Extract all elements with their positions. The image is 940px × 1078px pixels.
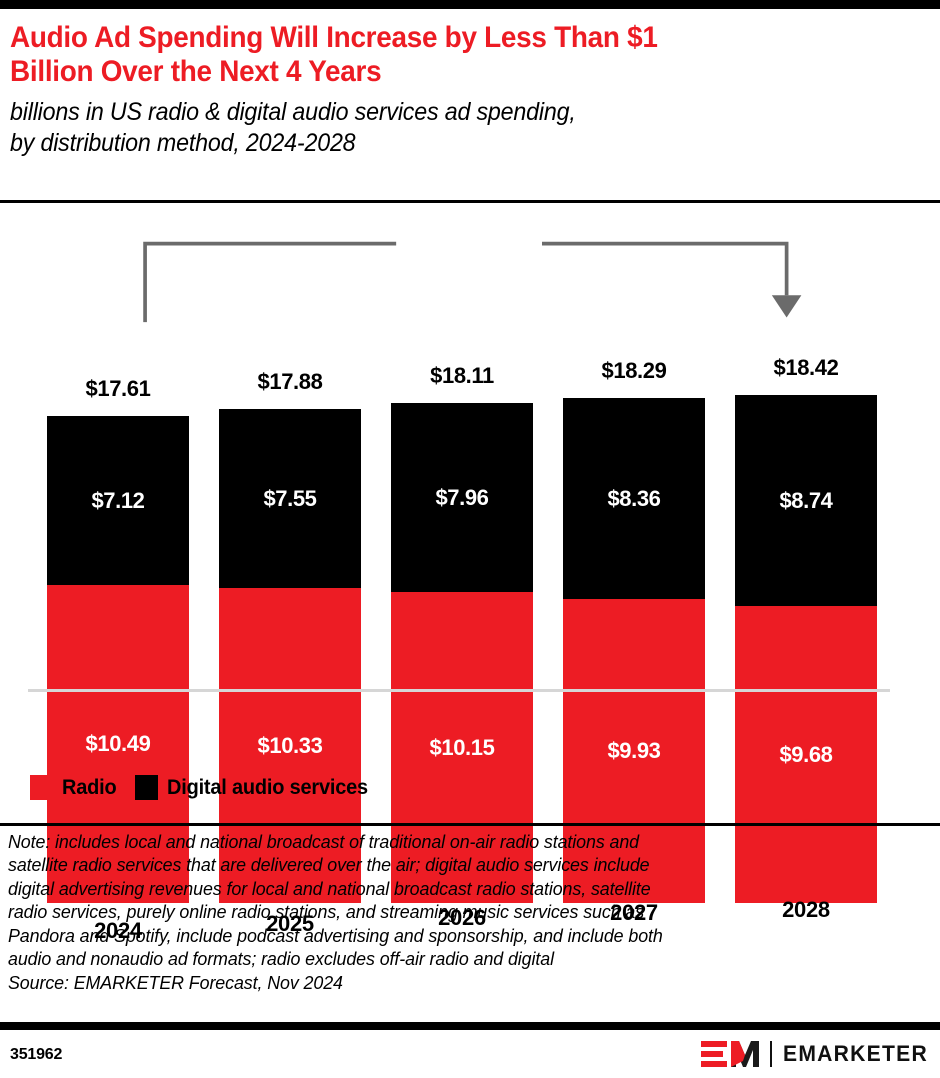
note-line: audio and nonaudio ad formats; radio exc… [8,947,896,970]
bar-segment-label: $8.74 [779,488,832,514]
stacked-bar-chart: +$0.81 $17.61 $7.12 $10.49 2024 $17.88 $… [0,203,940,815]
bar-group: $18.42 $8.74 $9.68 2028 [735,395,877,903]
chart-page: Audio Ad Spending Will Increase by Less … [0,0,940,1078]
bar-segment-label: $9.93 [607,738,660,764]
bar-group: $17.88 $7.55 $10.33 2025 [219,409,361,903]
bar-segment-digital: $8.74 [735,395,877,606]
top-black-band [0,0,940,9]
bar-segment-digital: $7.96 [391,403,533,592]
bar-total-label: $17.88 [219,369,361,395]
emarketer-logo: EMARKETER [701,1039,934,1069]
legend-swatch-radio [30,775,53,800]
bar-total-label: $18.11 [391,363,533,389]
note-line: digital advertising revenues for local a… [8,877,896,900]
note-source: Source: EMARKETER Forecast, Nov 2024 [8,971,896,994]
logo-divider [770,1041,772,1067]
legend-label: Digital audio services [167,776,368,800]
bar-segment-label: $8.36 [607,486,660,512]
emarketer-logo-mark-icon [701,1039,759,1069]
bar-segment-label: $10.15 [430,735,495,761]
x-axis-line [28,689,890,692]
chart-legend: Radio Digital audio services [30,775,379,800]
bar-group: $18.29 $8.36 $9.93 2027 [563,398,705,903]
legend-swatch-digital-audio-services [135,775,158,800]
chart-footer: 351962 EMARKETER [0,1030,940,1078]
bar-total-label: $17.61 [47,376,189,402]
note-line: Note: includes local and national broadc… [8,830,896,853]
bar-segment-digital: $7.55 [219,409,361,588]
bar-segment-label: $7.96 [435,485,488,511]
legend-item-digital-audio-services: Digital audio services [135,775,379,800]
bar-total-label: $18.29 [563,358,705,384]
page-subtitle: billions in US radio & digital audio ser… [10,97,864,158]
emarketer-wordmark: EMARKETER [783,1041,928,1067]
note-line: satellite radio services that are delive… [8,853,896,876]
chart-id: 351962 [10,1046,62,1064]
bar-segment-label: $10.33 [258,733,323,759]
bar-total-label: $18.42 [735,355,877,381]
bar-segment-label: $9.68 [779,742,832,768]
footer-black-band [0,1022,940,1030]
bar-segment-label: $7.55 [263,486,316,512]
page-title: Audio Ad Spending Will Increase by Less … [10,21,864,88]
chart-note: Note: includes local and national broadc… [8,830,896,994]
note-line: radio services, purely online radio stat… [8,900,896,923]
bar-segment-label: $7.12 [91,488,144,514]
legend-label: Radio [62,776,116,800]
bar-segment-label: $10.49 [86,731,151,757]
chart-header: Audio Ad Spending Will Increase by Less … [0,9,940,158]
note-line: Pandora and Spotify, include podcast adv… [8,924,896,947]
note-divider [0,823,940,826]
bar-segment-digital: $7.12 [47,416,189,585]
bar-segment-digital: $8.36 [563,398,705,599]
bar-group: $18.11 $7.96 $10.15 2026 [391,403,533,903]
legend-item-radio: Radio [30,775,119,800]
